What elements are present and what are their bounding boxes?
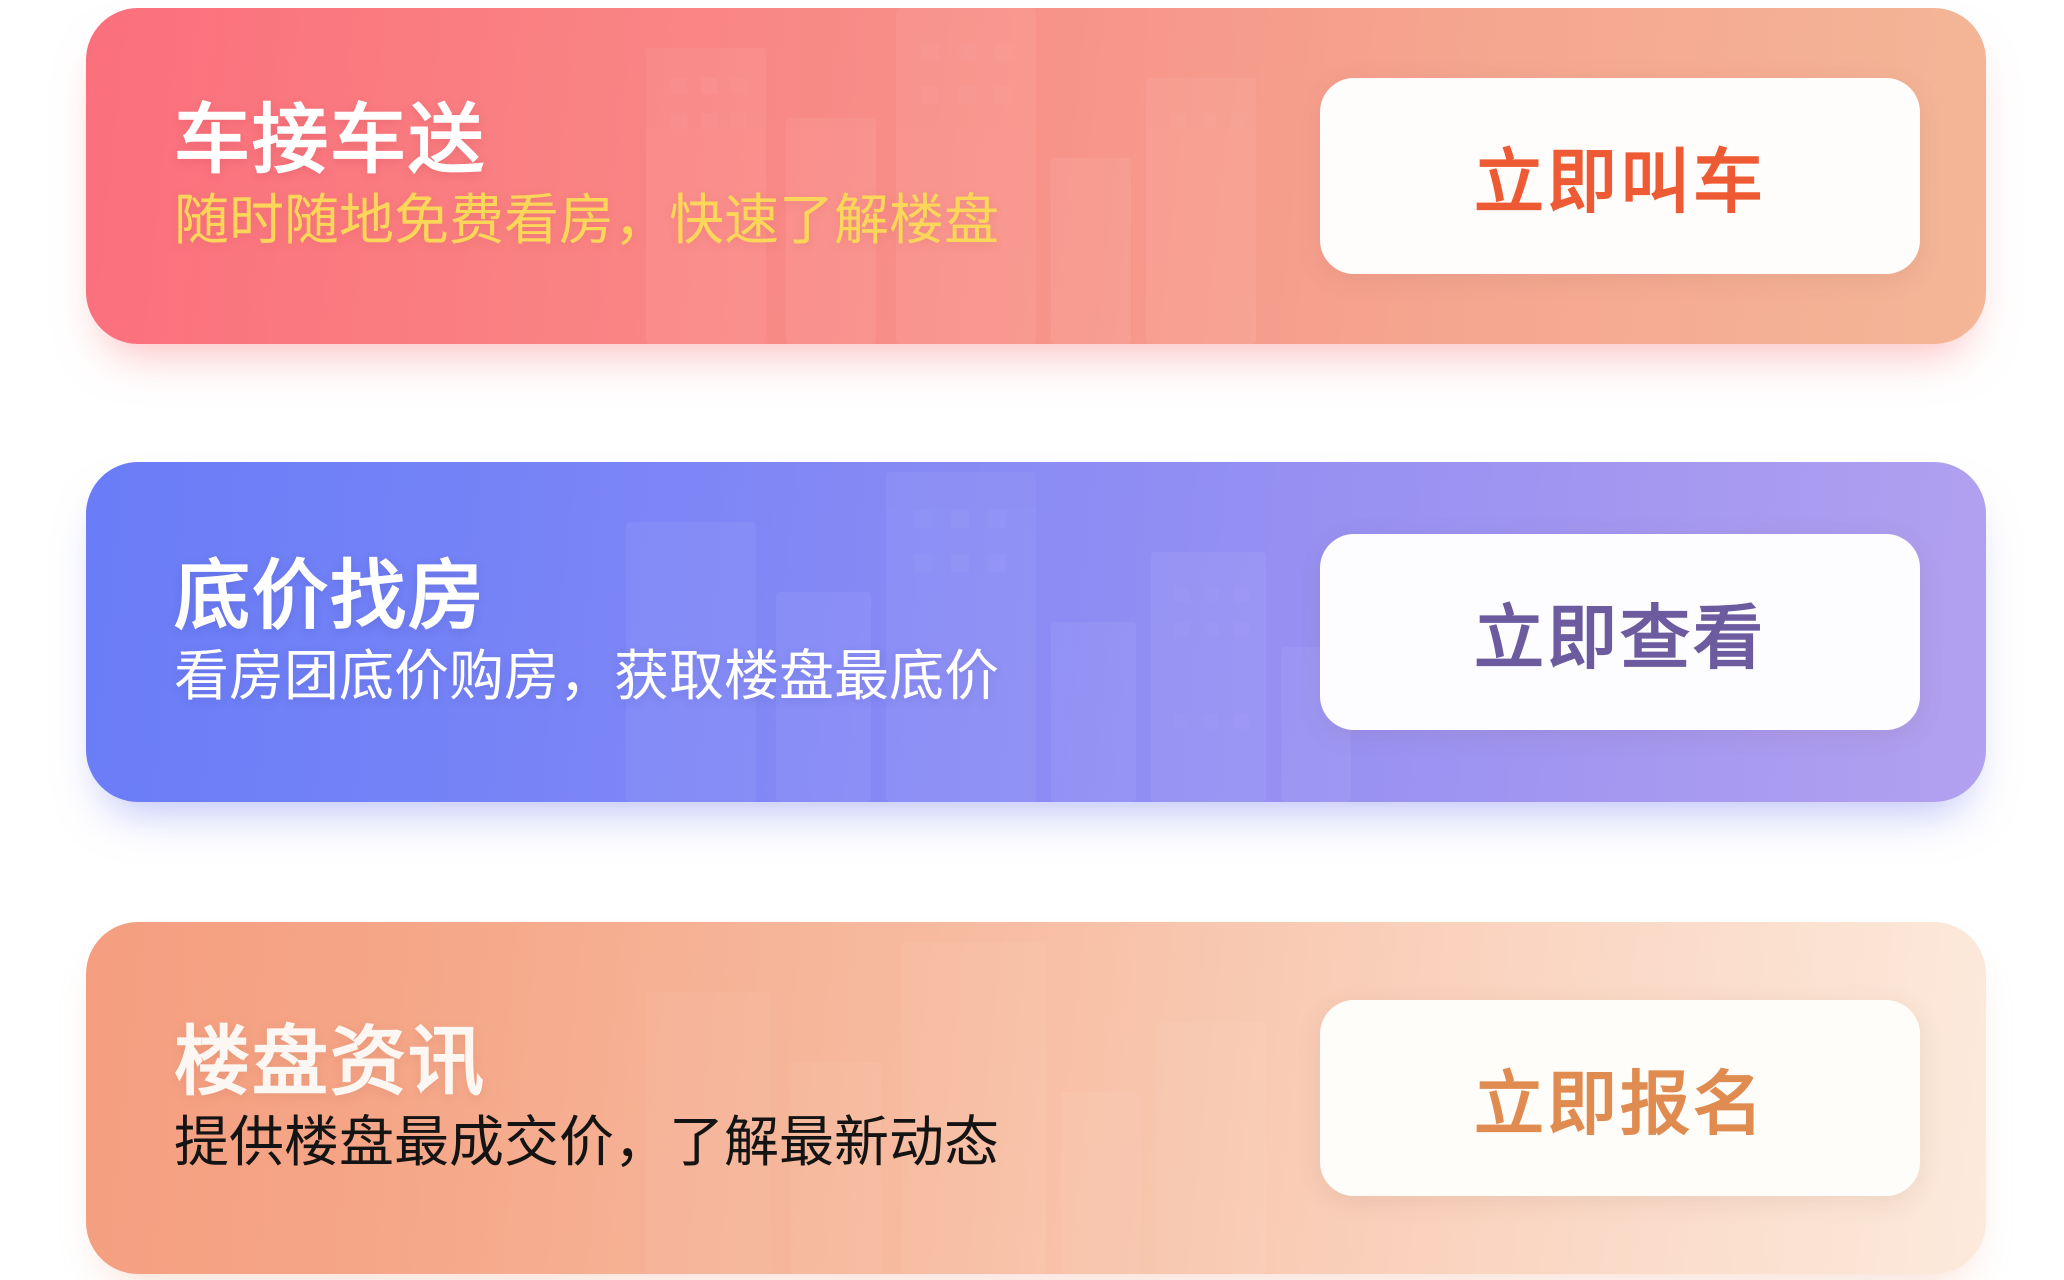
- view-now-button[interactable]: 立即查看: [1320, 534, 1920, 730]
- card-text-block: 楼盘资讯 提供楼盘最成交价，了解最新动态: [174, 1024, 1320, 1173]
- promo-card-car-service[interactable]: 车接车送 随时随地免费看房，快速了解楼盘 立即叫车: [86, 8, 1986, 344]
- call-car-button[interactable]: 立即叫车: [1320, 78, 1920, 274]
- promo-card-property-news[interactable]: 楼盘资讯 提供楼盘最成交价，了解最新动态 立即报名: [86, 922, 1986, 1274]
- card-subtitle: 提供楼盘最成交价，了解最新动态: [174, 1113, 1320, 1172]
- card-subtitle: 看房团底价购房，获取楼盘最底价: [174, 647, 1320, 706]
- card-text-block: 车接车送 随时随地免费看房，快速了解楼盘: [174, 102, 1320, 251]
- promo-card-lowest-price[interactable]: 底价找房 看房团底价购房，获取楼盘最底价 立即查看: [86, 462, 1986, 802]
- card-subtitle: 随时随地免费看房，快速了解楼盘: [174, 191, 1320, 250]
- promo-card-stack: 车接车送 随时随地免费看房，快速了解楼盘 立即叫车: [0, 0, 2064, 1280]
- card-title: 车接车送: [174, 102, 1320, 180]
- sign-up-button[interactable]: 立即报名: [1320, 1000, 1920, 1196]
- card-title: 楼盘资讯: [174, 1024, 1320, 1102]
- card-text-block: 底价找房 看房团底价购房，获取楼盘最底价: [174, 558, 1320, 707]
- card-title: 底价找房: [174, 558, 1320, 636]
